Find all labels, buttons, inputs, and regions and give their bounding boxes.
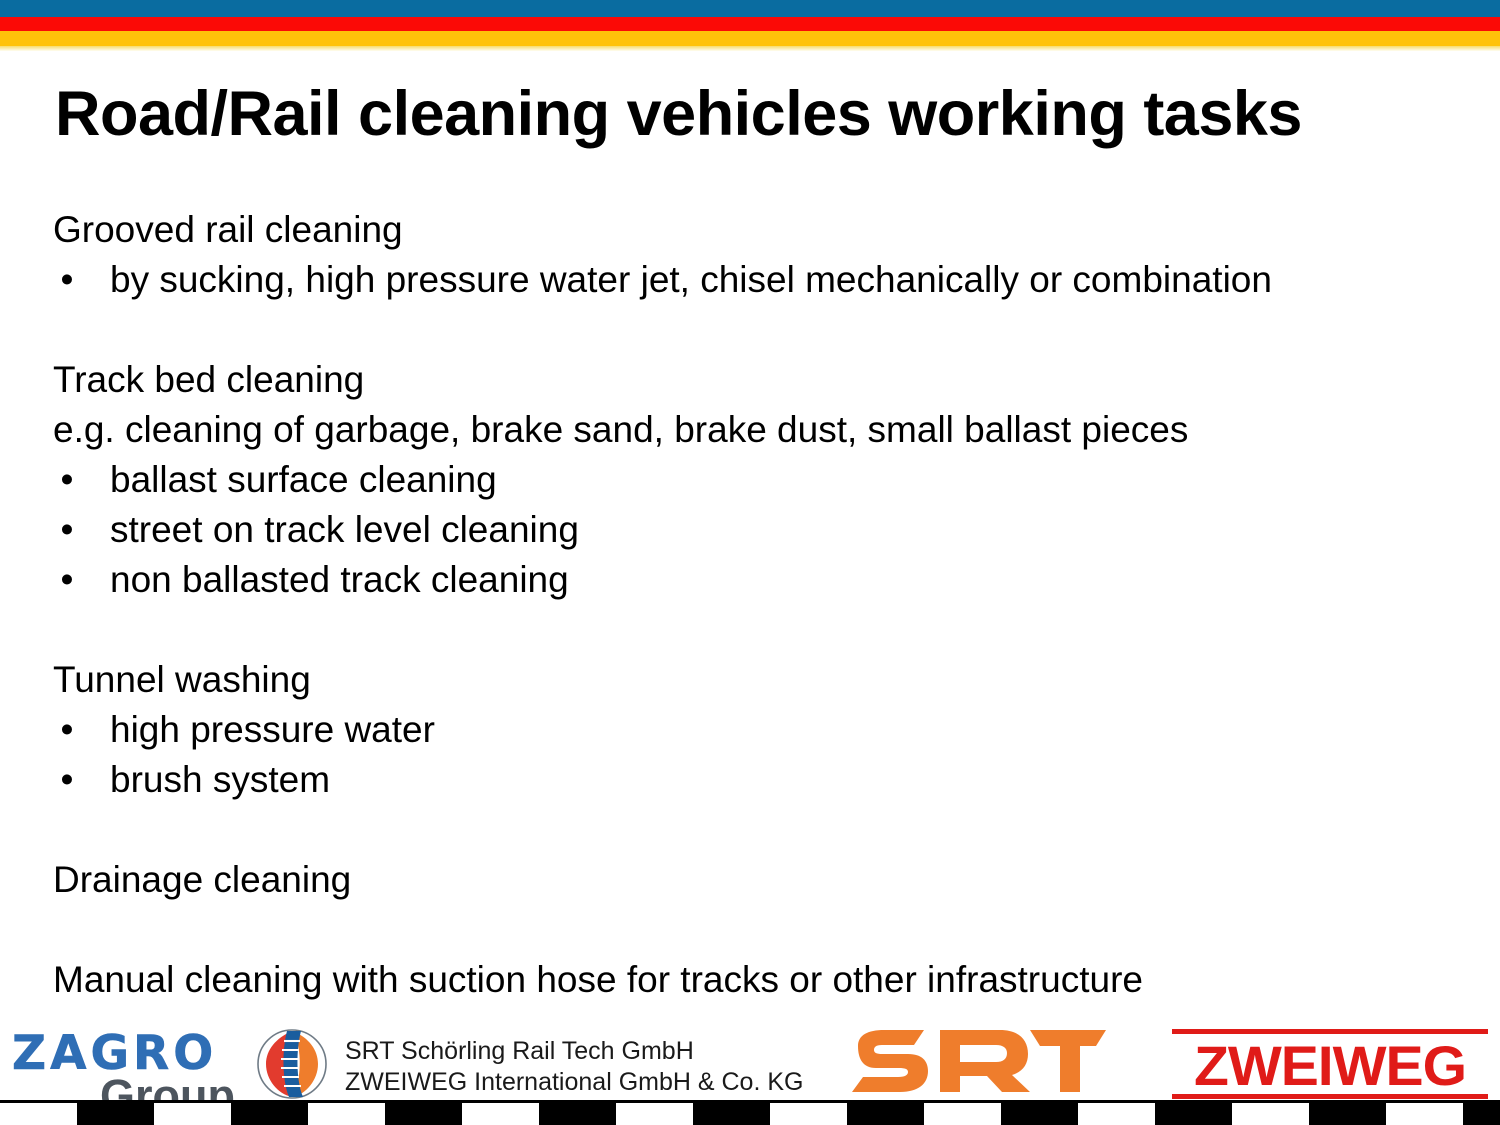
section-spacer <box>53 805 1463 855</box>
bullet-item: • street on track level cleaning <box>53 505 1463 555</box>
bullet-icon: • <box>60 505 74 555</box>
stripe-yellow <box>0 31 1500 46</box>
bullet-item: • non ballasted track cleaning <box>53 555 1463 605</box>
bullet-text: by sucking, high pressure water jet, chi… <box>110 259 1272 300</box>
bullet-item: • ballast surface cleaning <box>53 455 1463 505</box>
section-subheading-track-bed-cleaning: e.g. cleaning of garbage, brake sand, br… <box>53 405 1463 455</box>
bullet-icon: • <box>60 555 74 605</box>
bullet-text: non ballasted track cleaning <box>110 559 569 600</box>
bullet-icon: • <box>60 705 74 755</box>
section-heading-tunnel-washing: Tunnel washing <box>53 655 1463 705</box>
bullet-text: ballast surface cleaning <box>110 459 497 500</box>
zweiweg-text: ZWEIWEG <box>1169 1033 1491 1098</box>
stripe-fade <box>0 46 1500 51</box>
zweiweg-rule-bottom <box>1172 1094 1488 1099</box>
bullet-icon: • <box>60 755 74 805</box>
slide-body: Grooved rail cleaning • by sucking, high… <box>53 205 1463 1005</box>
bullet-text: brush system <box>110 759 330 800</box>
checkered-bottom-bar <box>0 1103 1500 1125</box>
bullet-item: • by sucking, high pressure water jet, c… <box>53 255 1463 305</box>
company-name-block: SRT Schörling Rail Tech GmbH ZWEIWEG Int… <box>345 1036 803 1098</box>
section-spacer <box>53 605 1463 655</box>
company-line-zweiweg: ZWEIWEG International GmbH & Co. KG <box>345 1067 803 1098</box>
page-title: Road/Rail cleaning vehicles working task… <box>55 78 1455 150</box>
company-line-srt: SRT Schörling Rail Tech GmbH <box>345 1036 803 1067</box>
section-spacer <box>53 305 1463 355</box>
bullet-text: high pressure water <box>110 709 435 750</box>
bullet-item: • high pressure water <box>53 705 1463 755</box>
section-heading-grooved-rail-cleaning: Grooved rail cleaning <box>53 205 1463 255</box>
slide-root: Road/Rail cleaning vehicles working task… <box>0 0 1500 1125</box>
zweiweg-wordmark-logo: ZWEIWEG <box>1172 1027 1488 1101</box>
bullet-icon: • <box>60 455 74 505</box>
top-color-band <box>0 0 1500 50</box>
section-heading-manual-cleaning: Manual cleaning with suction hose for tr… <box>53 955 1463 1005</box>
bullet-icon: • <box>60 255 74 305</box>
srt-wordmark-logo <box>848 1026 1108 1100</box>
section-spacer <box>53 905 1463 955</box>
zagro-logo: ZAGRO Group <box>12 1026 242 1110</box>
section-heading-drainage-cleaning: Drainage cleaning <box>53 855 1463 905</box>
stripe-red <box>0 17 1500 31</box>
stripe-blue <box>0 0 1500 17</box>
section-heading-track-bed-cleaning: Track bed cleaning <box>53 355 1463 405</box>
bullet-text: street on track level cleaning <box>110 509 579 550</box>
bullet-item: • brush system <box>53 755 1463 805</box>
srt-circle-emblem-icon <box>256 1028 328 1100</box>
